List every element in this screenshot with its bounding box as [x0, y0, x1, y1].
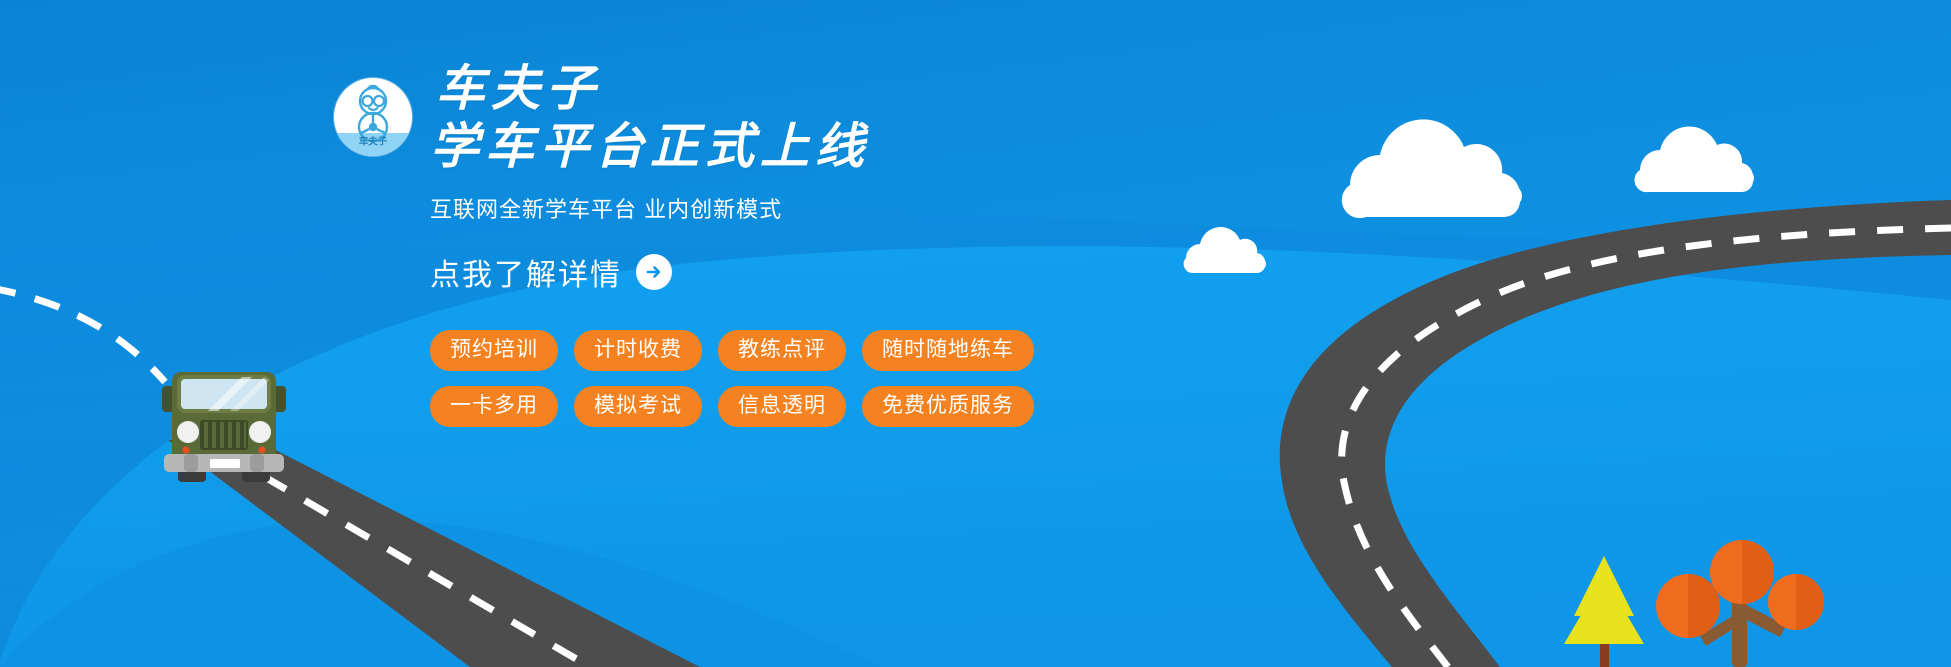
- tag-jiaolian-dianping[interactable]: 教练点评: [718, 330, 846, 371]
- tag-moni-kaoshi[interactable]: 模拟考试: [574, 386, 702, 427]
- cta-label: 点我了解详情: [430, 250, 622, 294]
- tag-xinxi-touming[interactable]: 信息透明: [718, 386, 846, 427]
- tag-yuyue-peixun[interactable]: 预约培训: [430, 330, 558, 371]
- logo-badge-text: 车夫子: [359, 136, 388, 148]
- jeep-vehicle: [162, 372, 286, 482]
- feature-tags: 预约培训 计时收费 教练点评 随时随地练车 一卡多用 模拟考试 信息透明 免费优…: [430, 330, 1130, 427]
- jeep-license-plate: [210, 459, 240, 468]
- headline-line-1: 车夫子: [430, 60, 870, 118]
- feature-tags-row-2: 一卡多用 模拟考试 信息透明 免费优质服务: [430, 386, 1130, 427]
- tag-suishi-suidi-lianche[interactable]: 随时随地练车: [862, 330, 1034, 371]
- jeep-windshield: [179, 377, 269, 411]
- tag-mianfei-youzhi-fuwu[interactable]: 免费优质服务: [862, 386, 1034, 427]
- tag-jishi-shoufei[interactable]: 计时收费: [574, 330, 702, 371]
- cta-learn-more[interactable]: 点我了解详情: [430, 250, 672, 294]
- headline-line-2: 学车平台正式上线: [430, 118, 870, 176]
- feature-tags-row-1: 预约培训 计时收费 教练点评 随时随地练车: [430, 330, 1130, 371]
- jeep-headlight-right: [249, 421, 271, 443]
- che-fu-zi-logo: 车夫子: [334, 78, 412, 156]
- promo-banner: 车夫子 车夫子 学车平台正式上线 互联网全新学车平台 业内创新模式 点我了解详情…: [0, 0, 1951, 667]
- brand-row: 车夫子 车夫子 学车平台正式上线: [334, 60, 1130, 176]
- jeep-headlight-left: [177, 421, 199, 443]
- headline: 车夫子 学车平台正式上线: [430, 60, 870, 176]
- subtitle: 互联网全新学车平台 业内创新模式: [430, 192, 1130, 224]
- tag-yika-duoyong[interactable]: 一卡多用: [430, 386, 558, 427]
- arrow-right-circle-icon[interactable]: [636, 254, 672, 290]
- banner-content: 车夫子 车夫子 学车平台正式上线 互联网全新学车平台 业内创新模式 点我了解详情…: [430, 60, 1130, 442]
- logo-artwork: 车夫子: [334, 78, 412, 156]
